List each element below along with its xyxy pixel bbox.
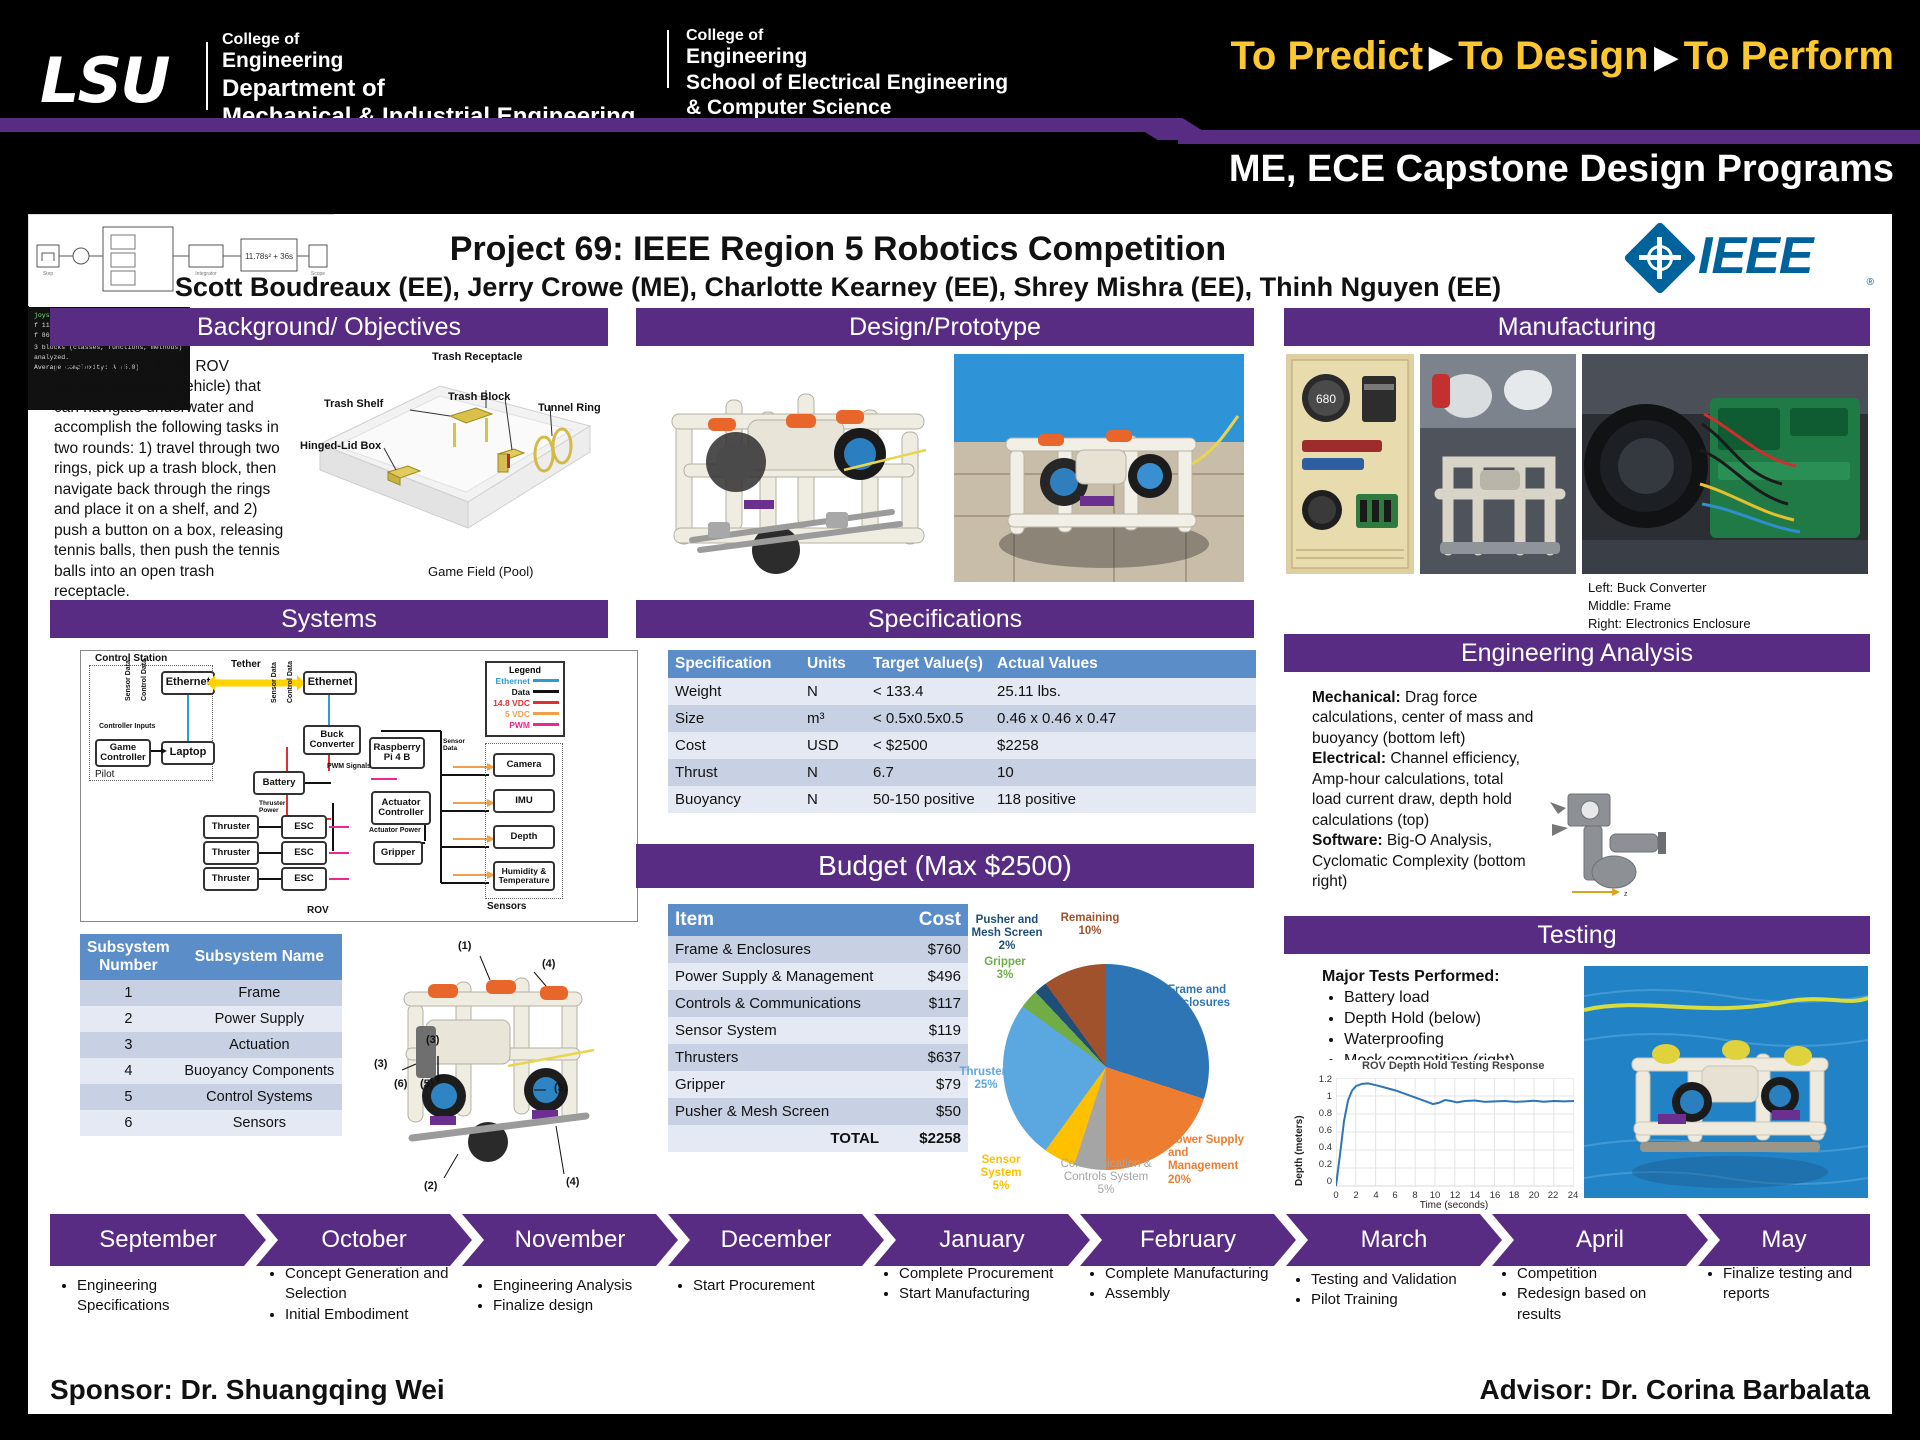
testing-item-depth-hold: Depth Hold (below) <box>1344 1008 1582 1029</box>
table-row: Controls & Communications$117 <box>668 990 968 1017</box>
dh-ytick-1-2: 1.2 <box>1306 1074 1332 1085</box>
budget-total-row: TOTAL$2258 <box>668 1125 968 1152</box>
pie-label-pusher-mesh: Pusher and Mesh Screen2% <box>966 914 1048 954</box>
subsystem-number-1: 1 <box>80 980 177 1006</box>
edge-label-sensor-data-1: Sensor Data <box>125 660 132 701</box>
budget-cost-controls: $117 <box>886 990 968 1017</box>
tagline-design: To Design <box>1458 34 1648 78</box>
testing-item-waterproofing: Waterproofing <box>1344 1029 1582 1050</box>
college-engineering-ece: Engineering <box>686 45 1008 68</box>
dh-ytick-0-2: 0.2 <box>1306 1159 1332 1170</box>
table-row: 4Buoyancy Components <box>80 1058 342 1084</box>
node-buck-converter: Buck Converter <box>303 725 361 755</box>
pie-label-communication-controls: Communication & Controls System5% <box>1056 1158 1156 1198</box>
rov-label: ROV <box>307 905 329 916</box>
node-actuator-controller: Actuator Controller <box>371 791 431 825</box>
task-may-1: Finalize testing and reports <box>1723 1264 1880 1305</box>
dh-xtick-8: 8 <box>1407 1190 1423 1201</box>
subsystem-name-6: Sensors <box>177 1110 342 1136</box>
budget-cost-power: $496 <box>886 963 968 990</box>
task-mar-1: Testing and Validation <box>1311 1270 1488 1290</box>
spec-units-buoyancy: N <box>800 786 866 813</box>
subsystem-number-5: 5 <box>80 1084 177 1110</box>
section-header-testing: Testing <box>1284 916 1870 954</box>
pie-label-frame-enclosures: Frame and Enclosures30% <box>1168 984 1256 1024</box>
table-row: Thrusters$637 <box>668 1044 968 1071</box>
spec-target-weight: < 133.4 <box>866 678 990 705</box>
legend-title: Legend <box>487 663 563 675</box>
engineering-analysis-text: Mechanical: Drag force calculations, cen… <box>1312 688 1534 893</box>
legend-swatch-5vdc <box>533 712 559 715</box>
table-row: ThrustN6.710 <box>668 759 1256 786</box>
timeline-month-march: March <box>1286 1214 1502 1266</box>
pie-label-power-supply: Power Supply and Management20% <box>1168 1134 1258 1187</box>
budget-item-gripper: Gripper <box>668 1071 886 1098</box>
callout-3a: (3) <box>374 1058 387 1070</box>
timeline-tasks-february: Complete Manufacturing Assembly <box>1092 1264 1272 1305</box>
header-band-right <box>1178 130 1920 144</box>
task-apr-1: Competition <box>1517 1264 1684 1284</box>
table-row: Pusher & Mesh Screen$50 <box>668 1098 968 1125</box>
subsystem-name-5: Control Systems <box>177 1084 342 1110</box>
node-esc-2: ESC <box>281 841 327 865</box>
timeline-tasks-january: Complete Procurement Start Manufacturing <box>886 1264 1066 1305</box>
college-label-ece: College of <box>686 28 1008 45</box>
dh-xtick-24: 24 <box>1564 1190 1582 1201</box>
callout-1: (1) <box>458 940 471 952</box>
task-jan-2: Start Manufacturing <box>899 1284 1066 1304</box>
mass-properties-svg: z <box>1532 780 1696 900</box>
depth-hold-y-axis-title: Depth (meters) <box>1294 1115 1305 1186</box>
dh-ytick-1: 1 <box>1306 1091 1332 1102</box>
task-apr-2: Redesign based on results <box>1517 1284 1684 1325</box>
spec-target-size: < 0.5x0.5x0.5 <box>866 705 990 732</box>
capstone-program-title: ME, ECE Capstone Design Programs <box>1229 148 1894 191</box>
timeline-tasks-september: Engineering Specifications <box>64 1276 244 1317</box>
legend-label-148vdc: 14.8 VDC <box>493 698 530 708</box>
budget-item-pusher: Pusher & Mesh Screen <box>668 1098 886 1125</box>
poster-canvas: Project 69: IEEE Region 5 Robotics Compe… <box>28 214 1892 1414</box>
spec-col-units: Units <box>800 650 866 678</box>
lsu-logo: LSU <box>40 44 169 117</box>
spec-units-cost: USD <box>800 732 866 759</box>
callout-3b: (3) <box>426 1034 439 1046</box>
background-text: Design and build an ROV (remote operated… <box>54 357 284 602</box>
ieee-registered-icon: ® <box>1867 277 1874 288</box>
subsystem-name-1: Frame <box>177 980 342 1006</box>
tagline-predict: To Predict <box>1230 34 1423 78</box>
enclosure-photo-svg <box>1582 354 1868 574</box>
node-humidity-temperature: Humidity & Temperature <box>493 861 555 891</box>
depth-hold-plot-svg <box>1336 1078 1574 1188</box>
edge-label-control-data-1: Control Data <box>141 659 148 701</box>
spec-target-buoyancy: 50-150 positive <box>866 786 990 813</box>
spec-units-thrust: N <box>800 759 866 786</box>
college-engineering-me: Engineering <box>222 49 635 72</box>
budget-total-value: $2258 <box>886 1125 968 1152</box>
ieee-bar-vertical <box>1657 237 1662 279</box>
budget-item-sensor: Sensor System <box>668 1017 886 1044</box>
dh-xtick-18: 18 <box>1505 1190 1523 1201</box>
dh-xtick-4: 4 <box>1368 1190 1384 1201</box>
table-row: 6Sensors <box>80 1110 342 1136</box>
svg-text:680: 680 <box>1316 392 1336 406</box>
spec-name-cost: Cost <box>668 732 800 759</box>
callout-6: (6) <box>394 1078 407 1090</box>
table-row: Frame & Enclosures$760 <box>668 936 968 963</box>
spec-actual-cost: $2258 <box>990 732 1256 759</box>
spec-name-thrust: Thrust <box>668 759 800 786</box>
ieee-wordmark: IEEE <box>1698 226 1813 286</box>
pie-label-gripper: Gripper3% <box>974 956 1036 982</box>
manufacturing-caption-left: Left: Buck Converter <box>1588 580 1707 597</box>
buck-converter-photo: 680 <box>1286 354 1414 574</box>
spec-target-thrust: 6.7 <box>866 759 990 786</box>
sponsor-credit: Sponsor: Dr. Shuangqing Wei <box>50 1374 445 1406</box>
subsystem-table: Subsystem Number Subsystem Name 1Frame 2… <box>80 934 342 1136</box>
timeline-month-april: April <box>1492 1214 1708 1266</box>
depth-hold-chart-title: ROV Depth Hold Testing Response <box>1362 1060 1545 1072</box>
legend-row-5vdc: 5 VDC <box>487 708 563 719</box>
manufacturing-caption-middle: Middle: Frame <box>1588 598 1671 615</box>
legend-row-pwm: PWM <box>487 719 563 730</box>
spec-units-weight: N <box>800 678 866 705</box>
spec-actual-thrust: 10 <box>990 759 1256 786</box>
underwater-photo-svg <box>1584 966 1868 1198</box>
spec-name-weight: Weight <box>668 678 800 705</box>
task-feb-1: Complete Manufacturing <box>1105 1264 1272 1284</box>
subsystem-name-4: Buoyancy Components <box>177 1058 342 1084</box>
budget-col-item: Item <box>668 904 886 936</box>
node-esc-1: ESC <box>281 815 327 839</box>
budget-header-row: Item Cost <box>668 904 968 936</box>
table-row: Power Supply & Management$496 <box>668 963 968 990</box>
dept-line1-me: Department of <box>222 75 635 103</box>
edge-label-actuator-power: Actuator Power <box>369 827 421 834</box>
node-esc-3: ESC <box>281 867 327 891</box>
dh-xtick-10: 10 <box>1426 1190 1444 1201</box>
timeline-tasks-october: Concept Generation and Selection Initial… <box>272 1264 462 1325</box>
task-feb-2: Assembly <box>1105 1284 1272 1304</box>
label-tunnel-ring: Tunnel Ring <box>538 402 601 414</box>
label-trash-shelf: Trash Shelf <box>324 398 383 410</box>
dh-xtick-12: 12 <box>1446 1190 1464 1201</box>
timeline-month-december: December <box>668 1214 884 1266</box>
node-camera: Camera <box>493 753 555 777</box>
timeline-month-october: October <box>256 1214 472 1266</box>
legend-swatch-148vdc <box>533 701 559 704</box>
subsystem-col-number: Subsystem Number <box>80 934 177 980</box>
timeline-tasks-november: Engineering Analysis Finalize design <box>480 1276 670 1317</box>
subsystem-table-header-row: Subsystem Number Subsystem Name <box>80 934 342 980</box>
table-row: 1Frame <box>80 980 342 1006</box>
pie-label-thrusters: Thrusters25% <box>948 1066 1024 1092</box>
game-field-svg <box>300 354 610 554</box>
dh-xtick-6: 6 <box>1387 1190 1403 1201</box>
callout-4a: (4) <box>542 958 555 970</box>
label-trash-block: Trash Block <box>448 391 510 403</box>
pie-label-sensor-system: Sensor System5% <box>966 1154 1036 1194</box>
tether-label: Tether <box>231 659 261 670</box>
legend-row-148vdc: 14.8 VDC <box>487 697 563 708</box>
spec-units-size: m³ <box>800 705 866 732</box>
dh-xtick-16: 16 <box>1486 1190 1504 1201</box>
table-row: 2Power Supply <box>80 1006 342 1032</box>
game-field-figure: Trash Shelf Hinged-Lid Box Trash Recepta… <box>300 354 610 554</box>
edge-label-sensor-data-2: Sensor Data <box>271 662 278 703</box>
page-header: LSU College of Engineering Department of… <box>0 0 1920 215</box>
budget-total-label: TOTAL <box>668 1125 886 1152</box>
task-oct-2: Initial Embodiment <box>285 1305 462 1325</box>
ea-label-electrical: Electrical: <box>1312 750 1386 767</box>
budget-table: Item Cost Frame & Enclosures$760 Power S… <box>668 904 968 1152</box>
college-label-me: College of <box>222 32 635 49</box>
game-field-caption: Game Field (Pool) <box>428 564 533 579</box>
dept-line1-ece: School of Electrical Engineering <box>686 71 1008 96</box>
table-row: 5Control Systems <box>80 1084 342 1110</box>
node-ethernet-rov: Ethernet <box>303 671 357 695</box>
callout-3c: (3) <box>554 1082 567 1094</box>
edge-label-sensor-data-3: Sensor Data <box>443 739 467 752</box>
legend-label-5vdc: 5 VDC <box>505 709 530 719</box>
edge-label-control-data-2: Control Data <box>287 661 294 703</box>
specifications-header-row: Specification Units Target Value(s) Actu… <box>668 650 1256 678</box>
section-header-specifications: Specifications <box>636 600 1254 638</box>
spec-col-actual: Actual Values <box>990 650 1256 678</box>
arrow-right-icon-1: ▶ <box>1423 41 1458 74</box>
spec-name-size: Size <box>668 705 800 732</box>
specifications-table: Specification Units Target Value(s) Actu… <box>668 650 1256 813</box>
timeline-tasks-may: Finalize testing and reports <box>1710 1264 1880 1305</box>
subsystem-name-2: Power Supply <box>177 1006 342 1032</box>
timeline-month-november: November <box>462 1214 678 1266</box>
section-header-systems: Systems <box>50 600 608 638</box>
subsystem-number-3: 3 <box>80 1032 177 1058</box>
task-jan-1: Complete Procurement <box>899 1264 1066 1284</box>
dh-ytick-0: 0 <box>1306 1176 1332 1187</box>
dh-xtick-2: 2 <box>1348 1190 1364 1201</box>
node-thruster-2: Thruster <box>203 841 259 865</box>
label-trash-receptacle: Trash Receptacle <box>432 351 523 363</box>
legend-swatch-ethernet <box>533 679 559 682</box>
poolside-photo-svg <box>954 354 1244 582</box>
node-raspberry-pi: Raspberry Pi 4 B <box>369 737 425 769</box>
legend-label-ethernet: Ethernet <box>496 676 530 686</box>
table-row: WeightN< 133.425.11 lbs. <box>668 678 1256 705</box>
tagline-perform: To Perform <box>1684 34 1894 78</box>
dept-line2-ece: & Computer Science <box>686 96 1008 121</box>
spec-target-cost: < $2500 <box>866 732 990 759</box>
node-imu: IMU <box>493 789 555 813</box>
dh-ytick-0-4: 0.4 <box>1306 1142 1332 1153</box>
dh-ytick-0-8: 0.8 <box>1306 1108 1332 1119</box>
pie-label-remaining: Remaining10% <box>1052 912 1128 938</box>
header-divider-1 <box>206 42 208 110</box>
budget-cost-sensor: $119 <box>886 1017 968 1044</box>
dh-xtick-0: 0 <box>1328 1190 1344 1201</box>
budget-col-cost: Cost <box>886 904 968 936</box>
task-dec-1: Start Procurement <box>693 1276 870 1296</box>
task-nov-2: Finalize design <box>493 1296 670 1316</box>
budget-item-frame: Frame & Enclosures <box>668 936 886 963</box>
rov-annotated-render: (1) (4) (3) (3) (6) (5) (2) (4) (3) <box>358 930 630 1196</box>
spec-actual-size: 0.46 x 0.46 x 0.47 <box>990 705 1256 732</box>
spec-actual-buoyancy: 118 positive <box>990 786 1256 813</box>
svg-text:z: z <box>1624 891 1628 898</box>
table-row: 3Actuation <box>80 1032 342 1058</box>
legend-row-ethernet: Ethernet <box>487 675 563 686</box>
table-row: Sensor System$119 <box>668 1017 968 1044</box>
subsystem-number-4: 4 <box>80 1058 177 1084</box>
dh-ytick-0-6: 0.6 <box>1306 1125 1332 1136</box>
spec-actual-weight: 25.11 lbs. <box>990 678 1256 705</box>
spec-col-target: Target Value(s) <box>866 650 990 678</box>
header-band-left <box>0 118 1180 132</box>
timeline-tasks-april: Competition Redesign based on results <box>1504 1264 1684 1325</box>
task-sept-1: Engineering Specifications <box>77 1276 244 1317</box>
table-row: CostUSD< $2500$2258 <box>668 732 1256 759</box>
legend-label-pwm: PWM <box>509 720 530 730</box>
legend-swatch-pwm <box>533 723 559 726</box>
section-header-design: Design/Prototype <box>636 308 1254 346</box>
dh-xtick-20: 20 <box>1525 1190 1543 1201</box>
rov-cad-render <box>648 354 938 582</box>
timeline-tasks-march: Testing and Validation Pilot Training <box>1298 1270 1488 1311</box>
timeline-month-may: May <box>1698 1214 1870 1266</box>
project-timeline: September October November December Janu… <box>50 1214 1870 1266</box>
depth-hold-chart: ROV Depth Hold Testing Response Depth (m… <box>1292 1060 1582 1212</box>
timeline-month-january: January <box>874 1214 1090 1266</box>
budget-cost-pusher: $50 <box>886 1098 968 1125</box>
advisor-credit: Advisor: Dr. Corina Barbalata <box>1479 1374 1870 1406</box>
legend-swatch-data <box>533 690 559 693</box>
table-row: BuoyancyN50-150 positive118 positive <box>668 786 1256 813</box>
testing-item-battery: Battery load <box>1344 987 1582 1008</box>
poster-title: Project 69: IEEE Region 5 Robotics Compe… <box>28 230 1648 269</box>
node-thruster-3: Thruster <box>203 867 259 891</box>
subsystem-name-3: Actuation <box>177 1032 342 1058</box>
node-thruster-1: Thruster <box>203 815 259 839</box>
spec-name-buoyancy: Buoyancy <box>668 786 800 813</box>
section-header-manufacturing: Manufacturing <box>1284 308 1870 346</box>
systems-block-diagram: Control Station Ethernet Laptop Game Con… <box>80 650 638 922</box>
subsystem-number-6: 6 <box>80 1110 177 1136</box>
timeline-month-september: September <box>50 1214 266 1266</box>
buck-converter-svg: 680 <box>1286 354 1414 574</box>
underwater-testing-photo <box>1584 966 1868 1198</box>
node-battery: Battery <box>253 771 305 795</box>
poster-authors: Scott Boudreaux (EE), Jerry Crowe (ME), … <box>28 272 1648 303</box>
section-header-engineering-analysis: Engineering Analysis <box>1284 634 1870 672</box>
ea-label-software: Software: <box>1312 832 1383 849</box>
budget-item-thrusters: Thrusters <box>668 1044 886 1071</box>
rov-cad-svg <box>648 354 938 582</box>
program-tagline: To Predict▶To Design▶To Perform <box>1230 34 1894 79</box>
table-row: Gripper$79 <box>668 1071 968 1098</box>
legend-label-data: Data <box>512 687 530 697</box>
header-divider-2 <box>667 30 669 88</box>
electronics-enclosure-photo <box>1582 354 1868 574</box>
task-mar-2: Pilot Training <box>1311 1290 1488 1310</box>
edge-label-pwm-signals: PWM Signals <box>327 763 371 770</box>
frame-photo <box>1420 354 1576 574</box>
callout-5: (5) <box>420 1078 433 1090</box>
manufacturing-caption-right: Right: Electronics Enclosure <box>1588 616 1751 633</box>
callout-4b: (4) <box>566 1176 579 1188</box>
cad-mass-properties-render: z <box>1532 780 1696 900</box>
depth-hold-x-axis-title: Time (seconds) <box>1344 1200 1564 1211</box>
prototype-poolside-photo <box>954 354 1244 582</box>
dh-xtick-22: 22 <box>1544 1190 1562 1201</box>
department-ece: College of Engineering School of Electri… <box>686 28 1008 120</box>
edge-label-thruster-power: Thruster Power <box>259 801 283 814</box>
section-header-budget: Budget (Max $2500) <box>636 844 1254 888</box>
budget-cost-frame: $760 <box>886 936 968 963</box>
subsystem-number-2: 2 <box>80 1006 177 1032</box>
label-hinged-lid-box: Hinged-Lid Box <box>300 440 381 452</box>
node-gripper: Gripper <box>373 841 423 865</box>
ea-label-mechanical: Mechanical: <box>1312 689 1401 706</box>
testing-heading: Major Tests Performed: <box>1322 966 1582 987</box>
legend-row-data: Data <box>487 686 563 697</box>
edge-label-controller-inputs: Controller Inputs <box>99 723 155 730</box>
timeline-month-february: February <box>1080 1214 1296 1266</box>
callout-2: (2) <box>424 1180 437 1192</box>
systems-legend: Legend Ethernet Data 14.8 VDC 5 VDC PWM <box>485 661 565 737</box>
section-header-background: Background/ Objectives <box>50 308 608 346</box>
budget-item-controls: Controls & Communications <box>668 990 886 1017</box>
task-nov-1: Engineering Analysis <box>493 1276 670 1296</box>
dh-xtick-14: 14 <box>1466 1190 1484 1201</box>
sensors-label: Sensors <box>487 901 526 912</box>
node-depth: Depth <box>493 825 555 849</box>
subsystem-col-name: Subsystem Name <box>177 934 342 980</box>
task-oct-1: Concept Generation and Selection <box>285 1264 462 1305</box>
table-row: Sizem³< 0.5x0.5x0.50.46 x 0.46 x 0.47 <box>668 705 1256 732</box>
ieee-logo: IEEE ® <box>1630 228 1870 290</box>
department-mechanical: College of Engineering Department of Mec… <box>222 32 635 132</box>
spec-col-specification: Specification <box>668 650 800 678</box>
budget-item-power: Power Supply & Management <box>668 963 886 990</box>
testing-list: Major Tests Performed: Battery load Dept… <box>1322 966 1582 1072</box>
arrow-right-icon-2: ▶ <box>1649 41 1684 74</box>
frame-photo-svg <box>1420 354 1576 574</box>
rov-annotated-svg <box>358 930 630 1196</box>
timeline-tasks-december: Start Procurement <box>680 1276 870 1296</box>
